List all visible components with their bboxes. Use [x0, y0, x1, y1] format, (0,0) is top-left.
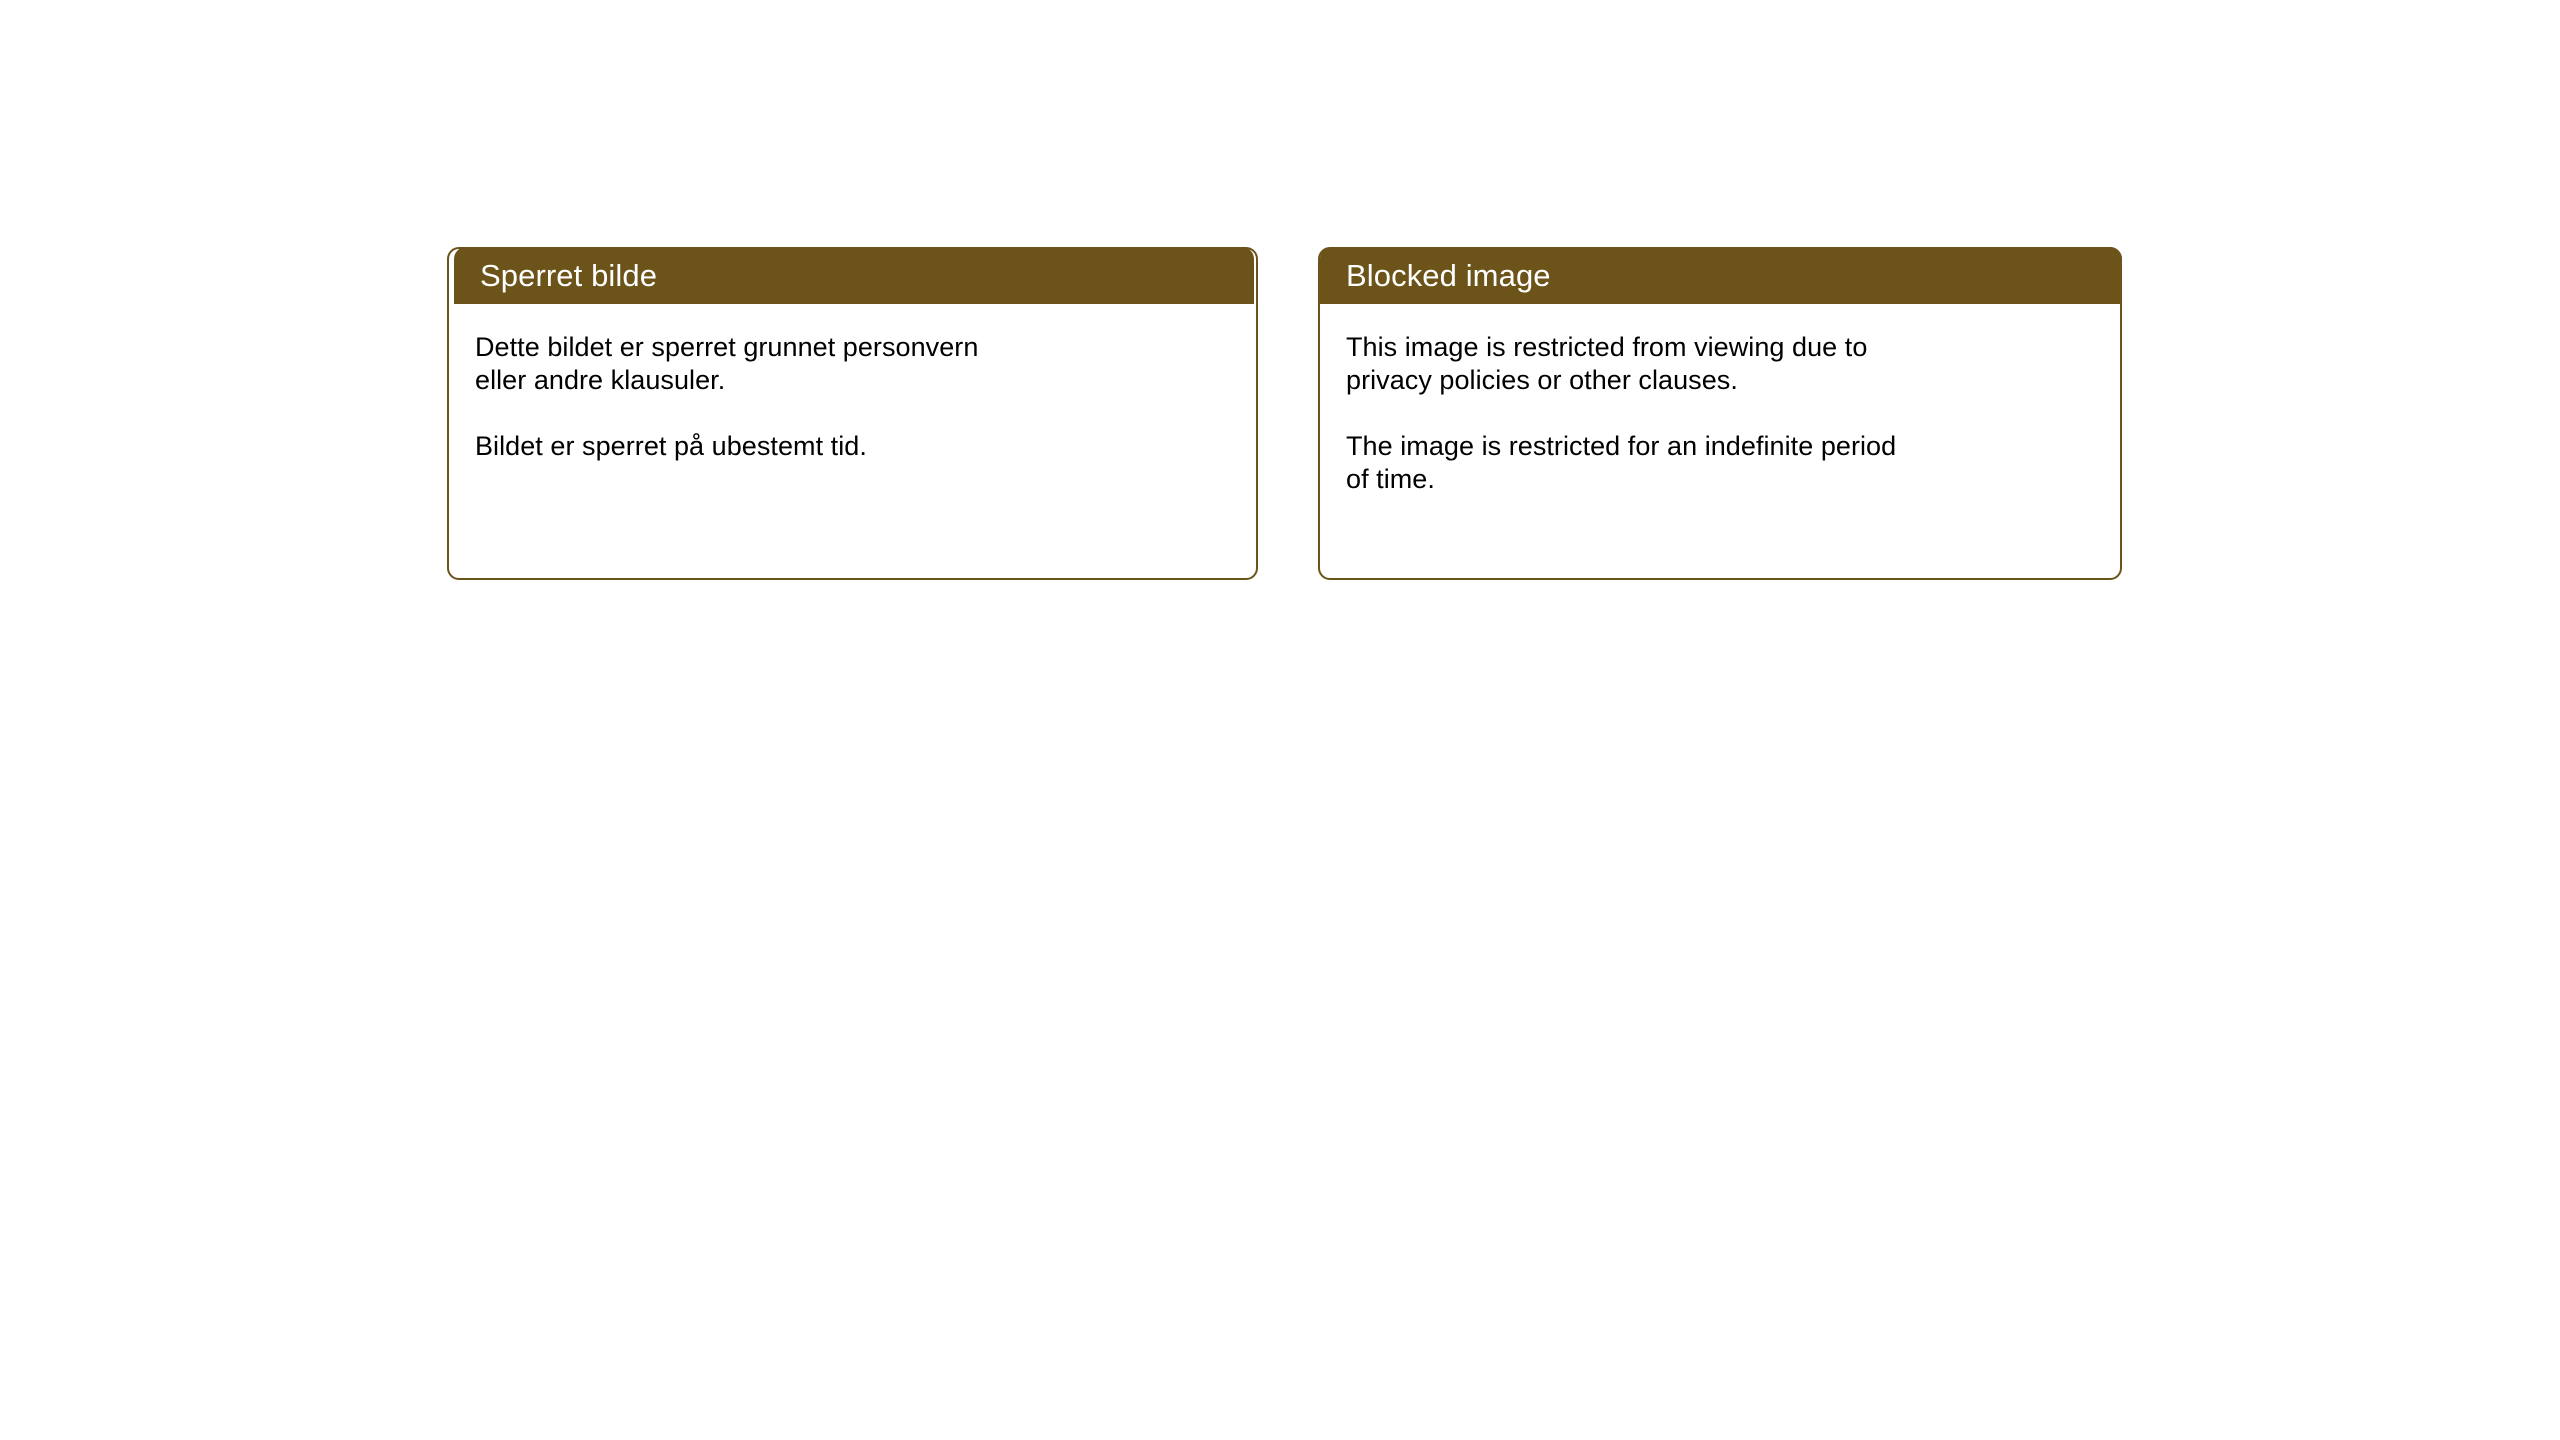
card-title-norwegian: Sperret bilde — [454, 260, 657, 291]
card-body-norwegian: Dette bildet er sperret grunnet personve… — [449, 304, 1256, 578]
blocked-image-card-english: Blocked image This image is restricted f… — [1318, 247, 2122, 580]
card-body-english: This image is restricted from viewing du… — [1320, 304, 2120, 578]
card-header-norwegian: Sperret bilde — [454, 247, 1254, 304]
card-title-english: Blocked image — [1320, 260, 1551, 291]
card-paragraph-english-2: The image is restricted for an indefinit… — [1346, 430, 2094, 496]
card-header-english: Blocked image — [1320, 247, 2122, 304]
card-paragraph-english-1: This image is restricted from viewing du… — [1346, 331, 2094, 397]
page-canvas: Sperret bilde Dette bildet er sperret gr… — [0, 0, 2560, 1440]
card-paragraph-norwegian-2: Bildet er sperret på ubestemt tid. — [475, 430, 1230, 463]
card-paragraph-norwegian-1: Dette bildet er sperret grunnet personve… — [475, 331, 1230, 397]
blocked-image-card-norwegian: Sperret bilde Dette bildet er sperret gr… — [447, 247, 1258, 580]
